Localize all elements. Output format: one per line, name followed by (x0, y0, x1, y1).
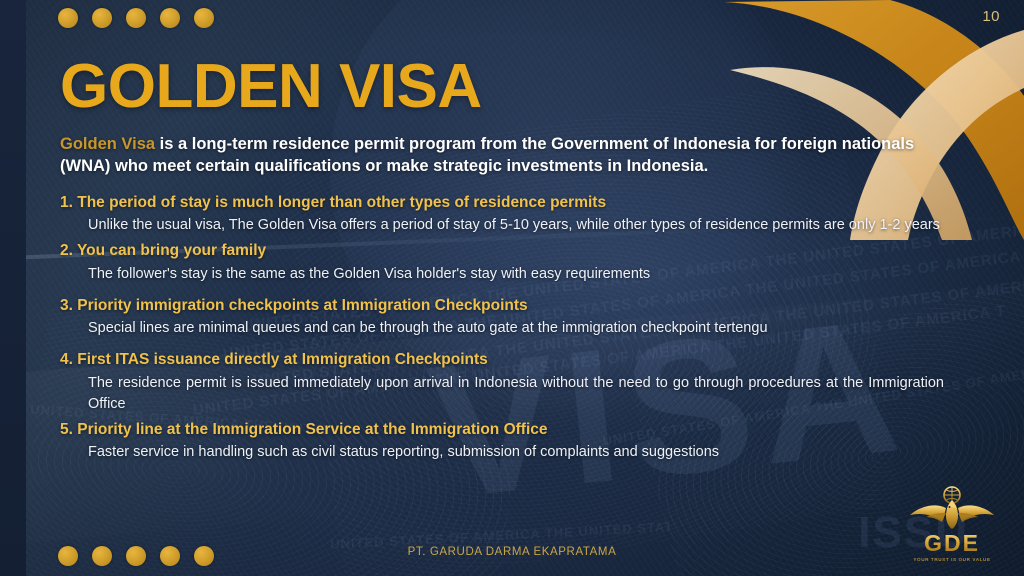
page-title: GOLDEN VISA (60, 56, 958, 118)
left-edge-stripe (0, 0, 26, 576)
dot-icon (92, 8, 112, 28)
dot-icon (58, 8, 78, 28)
benefit-heading: 3. Priority immigration checkpoints at I… (60, 295, 958, 317)
benefit-item-5: 5. Priority line at the Immigration Serv… (60, 419, 958, 463)
slide: VISA UNITED STATES OF AMERICA THE UNITED… (0, 0, 1024, 576)
benefit-item-2: 2. You can bring your family The followe… (60, 240, 958, 284)
benefit-body: Special lines are minimal queues and can… (88, 318, 944, 339)
logo-tagline: YOUR TRUST IS OUR VALUE (906, 557, 998, 562)
benefit-body: Faster service in handling such as civil… (88, 442, 944, 463)
dot-row-top (58, 8, 214, 28)
benefit-body: The follower's stay is the same as the G… (88, 264, 944, 285)
intro-paragraph: Golden Visa is a long-term residence per… (60, 134, 944, 178)
garuda-eagle-icon (906, 482, 998, 534)
logo-wordmark: GDE (906, 532, 998, 555)
benefit-body: The residence permit is issued immediate… (88, 373, 944, 415)
benefit-item-4: 4. First ITAS issuance directly at Immig… (60, 349, 958, 415)
intro-accent-text: Golden Visa (60, 135, 155, 153)
benefit-heading: 4. First ITAS issuance directly at Immig… (60, 349, 958, 371)
benefit-heading: 5. Priority line at the Immigration Serv… (60, 419, 958, 441)
footer-company-name: PT. GARUDA DARMA EKAPRATAMA (0, 546, 1024, 558)
dot-icon (126, 8, 146, 28)
page-number: 10 (982, 8, 1000, 25)
intro-rest-text: is a long-term residence permit program … (60, 135, 914, 175)
company-logo: GDE YOUR TRUST IS OUR VALUE (906, 482, 998, 570)
slide-content: GOLDEN VISA Golden Visa is a long-term r… (58, 44, 958, 467)
benefit-item-3: 3. Priority immigration checkpoints at I… (60, 295, 958, 339)
dot-icon (194, 8, 214, 28)
dot-icon (160, 8, 180, 28)
benefit-heading: 1. The period of stay is much longer tha… (60, 192, 958, 214)
benefit-heading: 2. You can bring your family (60, 240, 958, 262)
benefit-item-1: 1. The period of stay is much longer tha… (60, 192, 958, 236)
benefit-body: Unlike the usual visa, The Golden Visa o… (88, 215, 944, 236)
